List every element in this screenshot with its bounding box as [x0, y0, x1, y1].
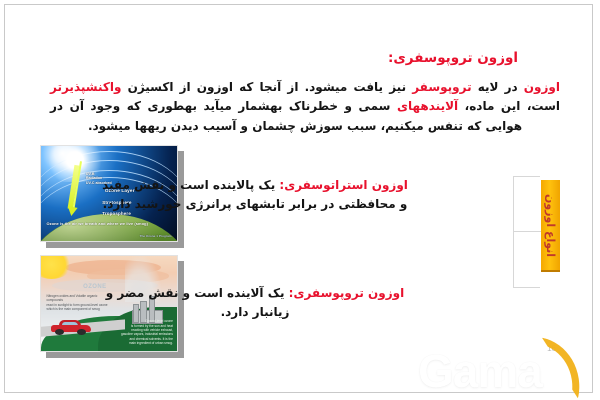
page-number: 16 [547, 344, 556, 353]
explanation-tropospheric-ozone: اوزون تروپوسفری: یک آلاینده است و نقش مض… [100, 284, 410, 322]
explanation-stratospheric-ozone: اوزون استراتوسفری: یک پالاینده است و نقش… [100, 176, 410, 214]
explanation-label-tropospheric: اوزون تروپوسفری: [289, 286, 405, 300]
body-highlight-troposphere: تروپوسفر [412, 80, 471, 94]
body-highlight-pollutants: آلایندههای [397, 99, 458, 113]
label-bottom-caption: Ozone is the air we breath and where we … [46, 221, 148, 226]
grouping-bracket-stem [513, 231, 542, 232]
explanation-text-tropospheric: یک آلاینده است و نقش مضر و زیانبار دارد. [106, 286, 290, 319]
body-segment-2: در لایه [472, 80, 524, 94]
uv-ray-arrow-icon [66, 206, 77, 216]
explanation-label-stratospheric: اوزون استراتوسفری: [279, 178, 407, 192]
label-image-credit: The Ozone 1 Program [140, 234, 172, 238]
label-smog-side-note: Ground-level ozone is formed by the sun … [119, 319, 173, 345]
body-segment-6: است، این ماده، [458, 99, 560, 113]
body-highlight-ozone: اوزون [524, 80, 560, 94]
slide-canvas: اوزون تروپوسفری: اوزون در لایه تروپوسفر … [0, 0, 600, 400]
page-title: اوزون تروپوسفری: [98, 50, 518, 66]
vertical-category-label: انواع اوزون [541, 180, 560, 272]
watermark-text: Gama [418, 344, 542, 398]
watermark-arc-icon [531, 338, 589, 399]
body-paragraph: اوزون در لایه تروپوسفر نیز یافت میشود. ا… [50, 78, 560, 136]
car-wheel [55, 329, 64, 335]
body-segment-4: نیز یافت میشود. از آنجا که اوزون از اکسی… [121, 80, 412, 94]
grouping-bracket [513, 176, 540, 288]
watermark-logo: Gama [418, 340, 590, 398]
vertical-category-label-text: انواع اوزون [544, 193, 557, 256]
car-icon [51, 321, 92, 335]
car-wheel [77, 329, 86, 335]
body-highlight-reactive: واکنشپذیرتر [50, 80, 121, 94]
